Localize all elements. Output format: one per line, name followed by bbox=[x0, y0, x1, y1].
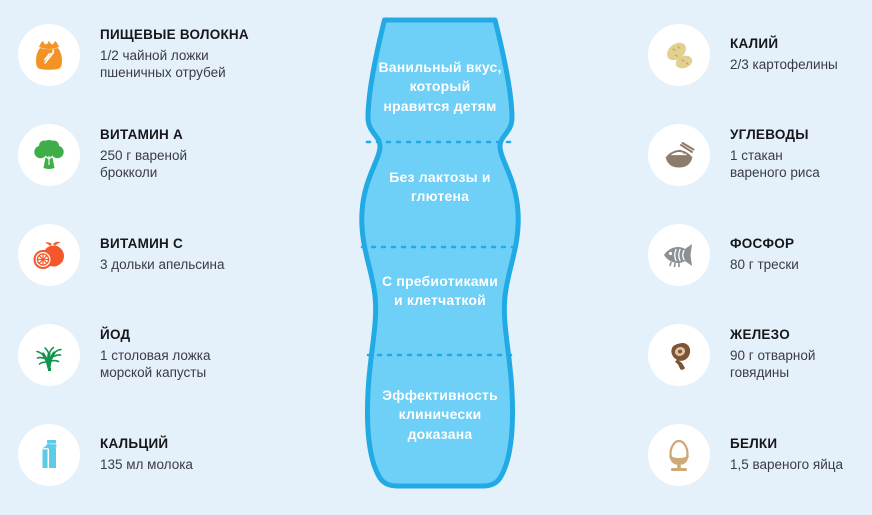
nutrient-desc: 135 мл молока bbox=[100, 456, 300, 474]
nutrient-item-potassium: КАЛИЙ 2/3 картофелины bbox=[648, 5, 872, 105]
nutrition-infographic: ПИЩЕВЫЕ ВОЛОКНА 1/2 чайной ложки пшеничн… bbox=[0, 0, 872, 515]
nutrient-text: ФОСФОР 80 г трески bbox=[730, 237, 872, 274]
nutrient-item-iron: ЖЕЛЕЗО 90 г отварной говядины bbox=[648, 305, 872, 405]
nutrient-text: КАЛИЙ 2/3 картофелины bbox=[730, 37, 872, 74]
nutrient-title: ЙОД bbox=[100, 328, 300, 343]
nutrient-title: УГЛЕВОДЫ bbox=[730, 128, 872, 143]
nutrient-title: КАЛЬЦИЙ bbox=[100, 437, 300, 452]
nutrient-text: ВИТАМИН С 3 дольки апельсина bbox=[100, 237, 300, 274]
fish-icon bbox=[648, 224, 710, 286]
nutrient-item-fiber: ПИЩЕВЫЕ ВОЛОКНА 1/2 чайной ложки пшеничн… bbox=[18, 5, 300, 105]
nutrient-text: КАЛЬЦИЙ 135 мл молока bbox=[100, 437, 300, 474]
nutrient-item-vitamin-a: ВИТАМИН А 250 г вареной брокколи bbox=[18, 105, 300, 205]
sack-of-bran-icon bbox=[18, 24, 80, 86]
potato-icon bbox=[648, 24, 710, 86]
broccoli-icon bbox=[18, 124, 80, 186]
nutrient-text: ЖЕЛЕЗО 90 г отварной говядины bbox=[730, 328, 872, 382]
bottle-claim: Эффективность клинически доказана bbox=[352, 386, 528, 444]
nutrient-desc: 1/2 чайной ложки пшеничных отрубей bbox=[100, 47, 300, 83]
nutrient-title: ВИТАМИН А bbox=[100, 128, 300, 143]
nutrient-title: КАЛИЙ bbox=[730, 37, 872, 52]
nutrient-title: ВИТАМИН С bbox=[100, 237, 300, 252]
egg-cup-icon bbox=[648, 424, 710, 486]
nutrient-item-vitamin-c: ВИТАМИН С 3 дольки апельсина bbox=[18, 205, 300, 305]
bottle-claim: Ванильный вкус, который нравится детям bbox=[352, 58, 528, 116]
seaweed-icon bbox=[18, 324, 80, 386]
rice-bowl-icon bbox=[648, 124, 710, 186]
bottle-claim: С пребиотиками и клетчаткой bbox=[352, 272, 528, 311]
nutrient-title: ПИЩЕВЫЕ ВОЛОКНА bbox=[100, 28, 300, 43]
nutrient-title: БЕЛКИ bbox=[730, 437, 872, 452]
product-bottle: Ванильный вкус, который нравится детям Б… bbox=[340, 0, 540, 515]
nutrient-desc: 250 г вареной брокколи bbox=[100, 147, 300, 183]
nutrient-desc: 1,5 вареного яйца bbox=[730, 456, 872, 474]
nutrient-desc: 80 г трески bbox=[730, 256, 872, 274]
nutrient-item-phosphorus: ФОСФОР 80 г трески bbox=[648, 205, 872, 305]
nutrient-text: УГЛЕВОДЫ 1 стакан вареного риса bbox=[730, 128, 872, 182]
orange-icon bbox=[18, 224, 80, 286]
nutrient-item-iodine: ЙОД 1 столовая ложка морской капусты bbox=[18, 305, 300, 405]
nutrient-text: ПИЩЕВЫЕ ВОЛОКНА 1/2 чайной ложки пшеничн… bbox=[100, 28, 300, 82]
nutrient-text: ЙОД 1 столовая ложка морской капусты bbox=[100, 328, 300, 382]
nutrient-item-protein: БЕЛКИ 1,5 вареного яйца bbox=[648, 405, 872, 505]
nutrient-desc: 90 г отварной говядины bbox=[730, 347, 872, 383]
nutrient-desc: 1 столовая ложка морской капусты bbox=[100, 347, 300, 383]
milk-carton-icon bbox=[18, 424, 80, 486]
nutrient-title: ФОСФОР bbox=[730, 237, 872, 252]
nutrient-desc: 1 стакан вареного риса bbox=[730, 147, 872, 183]
nutrient-item-carbs: УГЛЕВОДЫ 1 стакан вареного риса bbox=[648, 105, 872, 205]
left-nutrient-column: ПИЩЕВЫЕ ВОЛОКНА 1/2 чайной ложки пшеничн… bbox=[0, 0, 300, 515]
nutrient-text: ВИТАМИН А 250 г вареной брокколи bbox=[100, 128, 300, 182]
nutrient-text: БЕЛКИ 1,5 вареного яйца bbox=[730, 437, 872, 474]
nutrient-desc: 2/3 картофелины bbox=[730, 56, 872, 74]
nutrient-item-calcium: КАЛЬЦИЙ 135 мл молока bbox=[18, 405, 300, 505]
nutrient-title: ЖЕЛЕЗО bbox=[730, 328, 872, 343]
bottle-claims: Ванильный вкус, который нравится детям Б… bbox=[340, 0, 540, 515]
right-nutrient-column: КАЛИЙ 2/3 картофелины bbox=[640, 0, 872, 515]
nutrient-desc: 3 дольки апельсина bbox=[100, 256, 300, 274]
bottle-claim: Без лактозы и глютена bbox=[352, 168, 528, 207]
ham-icon bbox=[648, 324, 710, 386]
